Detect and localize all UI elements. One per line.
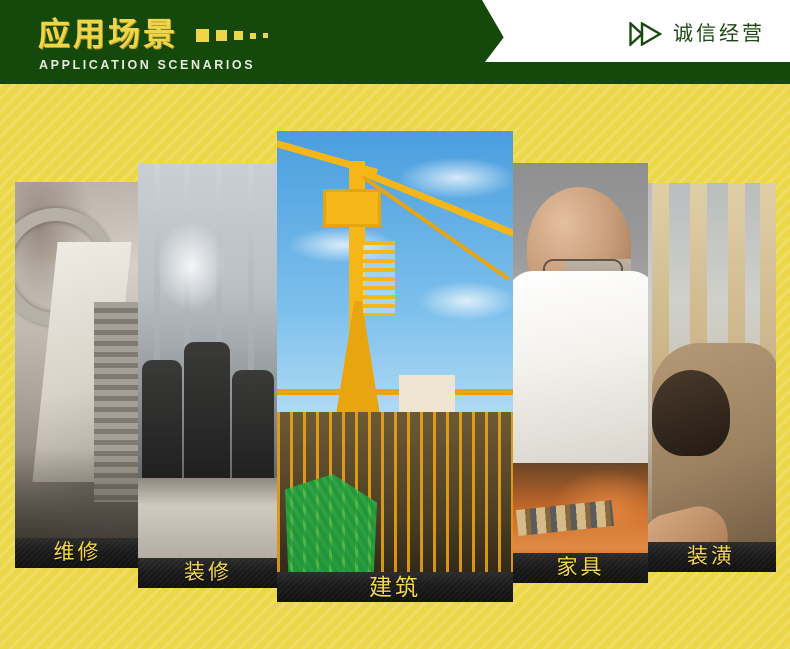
decor-square-2 bbox=[216, 30, 227, 41]
decor-square-5 bbox=[263, 33, 268, 38]
decor-square-1 bbox=[196, 29, 209, 42]
window-light-glow bbox=[156, 221, 226, 311]
scenario-photo-renovation bbox=[138, 163, 278, 588]
scenario-caption-construction: 建筑 bbox=[277, 572, 513, 602]
slogan-group: 诚信经营 bbox=[629, 22, 765, 46]
page-header: 应用场景 APPLICATION SCENARIOS 诚信经营 bbox=[0, 0, 790, 84]
floor-shape bbox=[138, 478, 278, 558]
scenario-photo-furniture bbox=[513, 163, 648, 583]
crane-ladder bbox=[363, 241, 395, 315]
carpenter-hair bbox=[652, 370, 730, 456]
crane-cabin-upper bbox=[323, 189, 381, 227]
scenario-card-decoration[interactable]: 装潢 bbox=[646, 183, 776, 572]
decor-square-4 bbox=[250, 33, 256, 39]
page-title: 应用场景 bbox=[38, 17, 178, 51]
cloud-3 bbox=[417, 281, 513, 321]
scenario-card-repair[interactable]: 维修 bbox=[15, 182, 140, 568]
scenario-caption-renovation: 装修 bbox=[138, 558, 278, 588]
crane-deck-rail bbox=[277, 389, 513, 395]
slogan-text: 诚信经营 bbox=[673, 22, 765, 46]
crane-mast-base bbox=[335, 301, 381, 421]
scenario-photo-construction bbox=[277, 131, 513, 602]
double-chevron-right-icon bbox=[629, 22, 663, 46]
title-decor-squares bbox=[196, 29, 268, 42]
deck-cabin-box bbox=[399, 375, 455, 415]
scenario-caption-decoration: 装潢 bbox=[646, 542, 776, 572]
scenario-caption-repair: 维修 bbox=[15, 538, 140, 568]
scenario-photo-repair bbox=[15, 182, 140, 568]
page-subtitle: APPLICATION SCENARIOS bbox=[39, 58, 255, 72]
decor-square-3 bbox=[234, 31, 243, 40]
scenario-card-furniture[interactable]: 家具 bbox=[513, 163, 648, 583]
scenario-photo-decoration bbox=[646, 183, 776, 572]
scenario-card-construction[interactable]: 建筑 bbox=[277, 131, 513, 602]
scenario-card-renovation[interactable]: 装修 bbox=[138, 163, 278, 588]
craftsman-shirt bbox=[513, 271, 648, 466]
scenario-caption-furniture: 家具 bbox=[513, 553, 648, 583]
